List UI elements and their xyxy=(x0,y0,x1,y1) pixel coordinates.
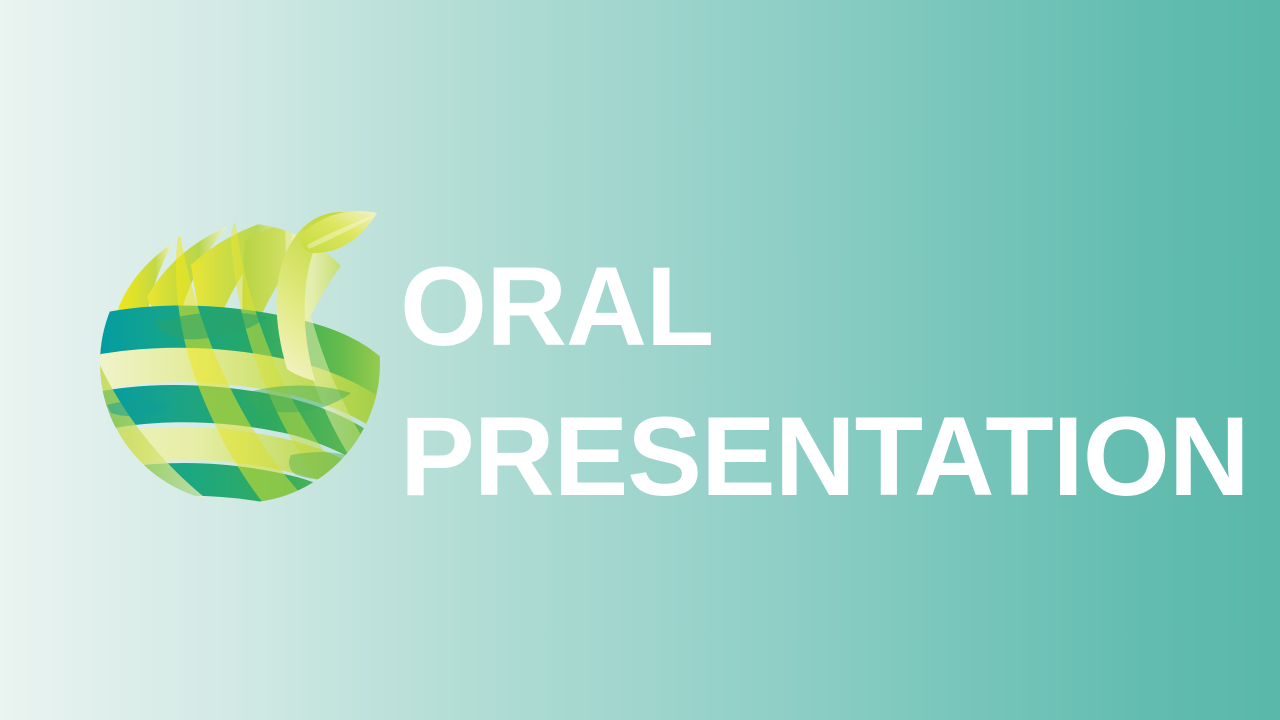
globe-ribbons xyxy=(95,211,385,515)
presentation-title-slide: ORAL PRESENTATION xyxy=(0,0,1280,720)
globe-ribbon-leaf-logo xyxy=(95,205,385,515)
title-line-1: ORAL xyxy=(400,232,1200,382)
leaf-icon xyxy=(301,211,377,253)
slide-title: ORAL PRESENTATION xyxy=(400,232,1200,532)
title-line-2: PRESENTATION xyxy=(400,382,1200,532)
